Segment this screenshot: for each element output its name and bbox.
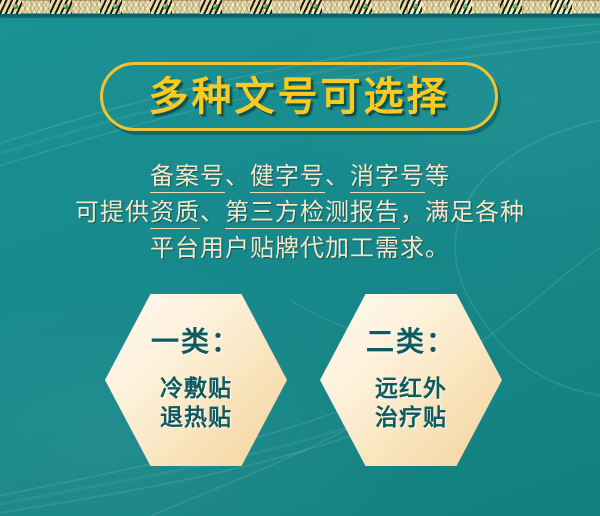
category-card-two: 二类： 远红外 治疗贴 xyxy=(320,294,502,466)
body-copy-text: 、 xyxy=(225,162,250,190)
border-gem-icon xyxy=(163,4,168,9)
promo-poster: 多种文号可选择 备案号、健字号、消字号等可提供资质、第三方检测报告，满足各种平台… xyxy=(0,0,600,516)
body-copy-text: 平台用户贴牌代加工需求。 xyxy=(150,234,450,262)
category-card-one: 一类： 冷敷贴 退热贴 xyxy=(105,294,287,466)
headline-pill: 多种文号可选择 xyxy=(100,62,498,131)
border-gem-icon xyxy=(113,4,118,9)
border-gem-icon xyxy=(213,4,218,9)
border-gem-icon xyxy=(263,4,268,9)
border-gem-icon xyxy=(463,4,468,9)
body-copy-line: 备案号、健字号、消字号等 xyxy=(0,158,600,194)
border-gem-icon xyxy=(313,4,318,9)
body-copy-highlight: 消字号 xyxy=(350,162,425,193)
body-copy-line: 可提供资质、第三方检测报告，满足各种 xyxy=(0,194,600,230)
border-gem-icon xyxy=(563,4,568,9)
border-gem-row xyxy=(0,0,600,14)
page-title: 多种文号可选择 xyxy=(149,77,450,117)
body-copy-line: 平台用户贴牌代加工需求。 xyxy=(0,230,600,266)
border-underline-strip xyxy=(0,14,600,18)
border-gem-icon xyxy=(363,4,368,9)
body-copy-highlight: 健字号 xyxy=(250,162,325,193)
body-copy-text: 等 xyxy=(425,162,450,190)
border-gem-icon xyxy=(63,4,68,9)
category-one-title: 一类： xyxy=(151,328,241,356)
top-ornamental-border xyxy=(0,0,600,14)
category-one-item-2: 退热贴 xyxy=(160,403,232,432)
border-gem-icon xyxy=(13,4,18,9)
body-copy-highlight: 资质 xyxy=(150,198,200,229)
category-two-item-2: 治疗贴 xyxy=(375,403,447,432)
border-gem-icon xyxy=(513,4,518,9)
body-copy-highlight: 备案号 xyxy=(150,162,225,193)
body-copy-text: 可提供 xyxy=(75,198,150,226)
body-copy-block: 备案号、健字号、消字号等可提供资质、第三方检测报告，满足各种平台用户贴牌代加工需… xyxy=(0,158,600,266)
body-copy-text: 、 xyxy=(200,198,225,226)
border-gem-icon xyxy=(413,4,418,9)
category-two-title: 二类： xyxy=(366,328,456,356)
category-one-item-1: 冷敷贴 xyxy=(160,374,232,403)
body-copy-highlight: 第三方检测报告 xyxy=(225,198,400,229)
body-copy-text: ，满足各种 xyxy=(400,198,525,226)
category-two-item-1: 远红外 xyxy=(375,374,447,403)
body-copy-text: 、 xyxy=(325,162,350,190)
